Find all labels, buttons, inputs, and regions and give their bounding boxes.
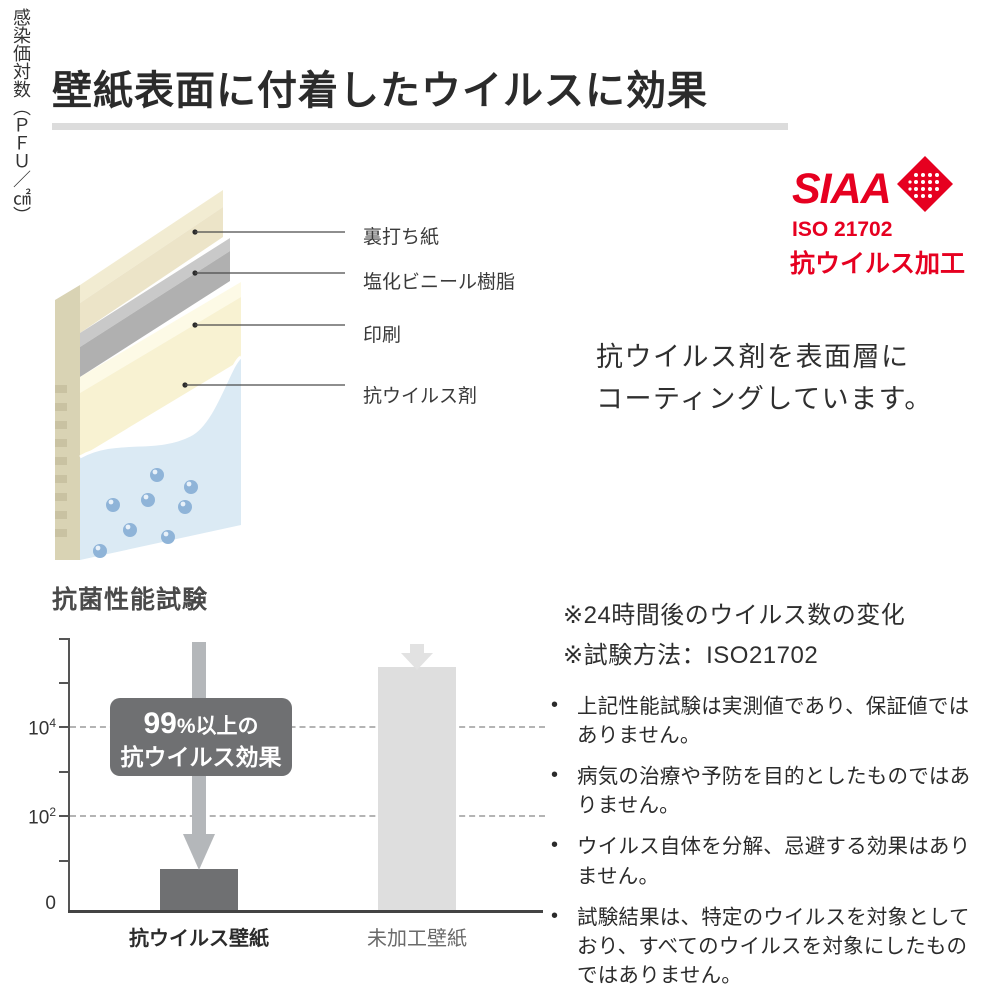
layer-label-vinyl-resin: 塩化ビニール樹脂: [363, 267, 515, 294]
list-item: ウイルス自体を分解、忌避する効果はありません。: [545, 832, 985, 890]
backing-paper-edge: [55, 285, 80, 560]
bar-untreated-wallpaper: [378, 667, 456, 910]
callout-value-suffix: %以上の: [177, 715, 259, 738]
x-label-untreated-wallpaper: 未加工壁紙: [317, 922, 517, 951]
layer-label-backing-paper: 裏打ち紙: [363, 222, 439, 249]
x-axis-line: [68, 910, 543, 913]
callout-value: 99: [143, 707, 176, 740]
chart-heading: 抗菌性能試験: [52, 580, 208, 616]
siaa-iso-standard: ISO 21702: [792, 218, 892, 242]
y-tick-label-zero: 0: [10, 893, 56, 915]
axis-tick: [59, 638, 70, 640]
x-label-antiviral-wallpaper: 抗ウイルス壁紙: [99, 922, 299, 951]
callout-line-1: 99%以上の: [110, 705, 292, 743]
layer-label-print: 印刷: [363, 320, 401, 347]
notes-header: ※24時間後のウイルス数の変化 ※試験方法：ISO21702: [563, 596, 993, 675]
axis-tick: [59, 860, 70, 862]
coating-statement: 抗ウイルス剤を表面層に コーティングしています。: [596, 337, 976, 421]
siaa-certification-badge: SIAA ISO 21702 抗ウイルス加工: [790, 155, 970, 275]
reduction-callout: 99%以上の 抗ウイルス効果: [110, 698, 292, 776]
notes-header-line-2: ※試験方法：ISO21702: [563, 636, 993, 676]
callout-line-2: 抗ウイルス効果: [110, 743, 292, 772]
untreated-arrow-icon: [400, 644, 434, 670]
layer-label-antiviral-agent: 抗ウイルス剤: [363, 381, 477, 408]
gridline-10e2: [70, 815, 545, 817]
siaa-mark: SIAA: [790, 155, 970, 217]
disclaimer-list: 上記性能試験は実測値であり、保証値ではありません。 病気の治療や予防を目的とした…: [545, 692, 985, 1002]
list-item: 試験結果は、特定のウイルスを対象としており、すべてのウイルスを対象にしたものでは…: [545, 903, 985, 990]
y-axis-title: 感染価対数（ＰＦＵ／㎠）: [4, 8, 30, 298]
wallpaper-cross-section-diagram: [45, 185, 345, 560]
y-tick-label-10e4: 104: [10, 716, 56, 740]
page-title: 壁紙表面に付着したウイルスに効果: [52, 58, 708, 116]
y-tick-label-10e2: 102: [10, 805, 56, 829]
axis-tick: [59, 682, 70, 684]
bar-antiviral-wallpaper: [160, 869, 238, 910]
siaa-wordmark: SIAA: [792, 168, 891, 211]
axis-tick: [59, 815, 70, 817]
siaa-treatment-label: 抗ウイルス加工: [790, 244, 965, 280]
axis-tick: [59, 726, 70, 728]
axis-tick: [59, 771, 70, 773]
list-item: 上記性能試験は実測値であり、保証値ではありません。: [545, 692, 985, 750]
title-underline: [52, 123, 788, 130]
siaa-diamond-icon: [896, 155, 954, 213]
notes-header-line-1: ※24時間後のウイルス数の変化: [563, 596, 993, 636]
list-item: 病気の治療や予防を目的としたものではありません。: [545, 762, 985, 820]
y-axis-line: [68, 638, 70, 911]
